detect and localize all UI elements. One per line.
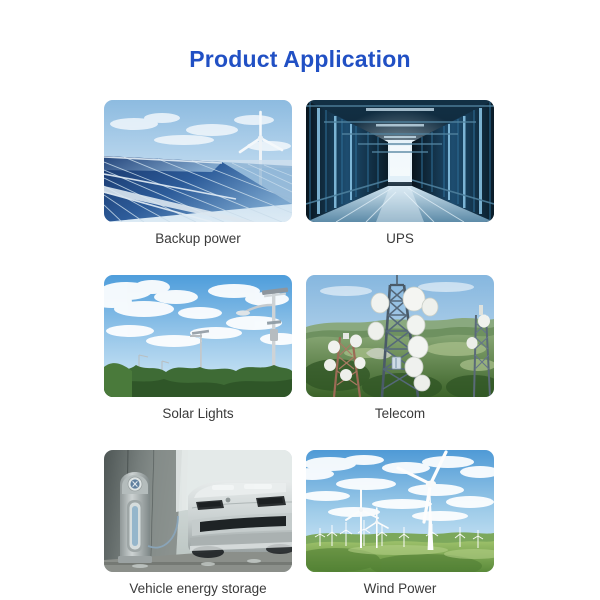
caption-wind-power: Wind Power [306, 581, 494, 597]
thumb-telecom[interactable] [306, 275, 494, 397]
solar-panels-image [104, 100, 292, 222]
thumb-vehicle-energy-storage[interactable] [104, 450, 292, 572]
caption-ups: UPS [306, 231, 494, 247]
thumb-wind-power[interactable] [306, 450, 494, 572]
thumb-ups[interactable] [306, 100, 494, 222]
application-tile-wind-power[interactable]: Wind Power [306, 450, 494, 597]
caption-solar-lights: Solar Lights [104, 406, 292, 422]
application-tile-ups[interactable]: UPS [306, 100, 494, 247]
thumb-solar-lights[interactable] [104, 275, 292, 397]
application-tile-telecom[interactable]: Telecom [306, 275, 494, 422]
application-grid: Backup power [104, 100, 494, 598]
ev-charging-image [104, 450, 292, 572]
caption-vehicle-energy-storage: Vehicle energy storage [104, 581, 292, 597]
wind-farm-image [306, 450, 494, 572]
thumb-backup-power[interactable] [104, 100, 292, 222]
data-center-image [306, 100, 494, 222]
telecom-tower-image [306, 275, 494, 397]
application-tile-vehicle-energy-storage[interactable]: Vehicle energy storage [104, 450, 292, 597]
caption-telecom: Telecom [306, 406, 494, 422]
ev-charging-pillar [118, 472, 152, 563]
application-tile-backup-power[interactable]: Backup power [104, 100, 292, 247]
solar-street-lights-image [104, 275, 292, 397]
electric-car [188, 480, 292, 558]
caption-backup-power: Backup power [104, 231, 292, 247]
product-application-page: Product Application [0, 0, 600, 600]
application-tile-solar-lights[interactable]: Solar Lights [104, 275, 292, 422]
page-title: Product Application [0, 46, 600, 73]
